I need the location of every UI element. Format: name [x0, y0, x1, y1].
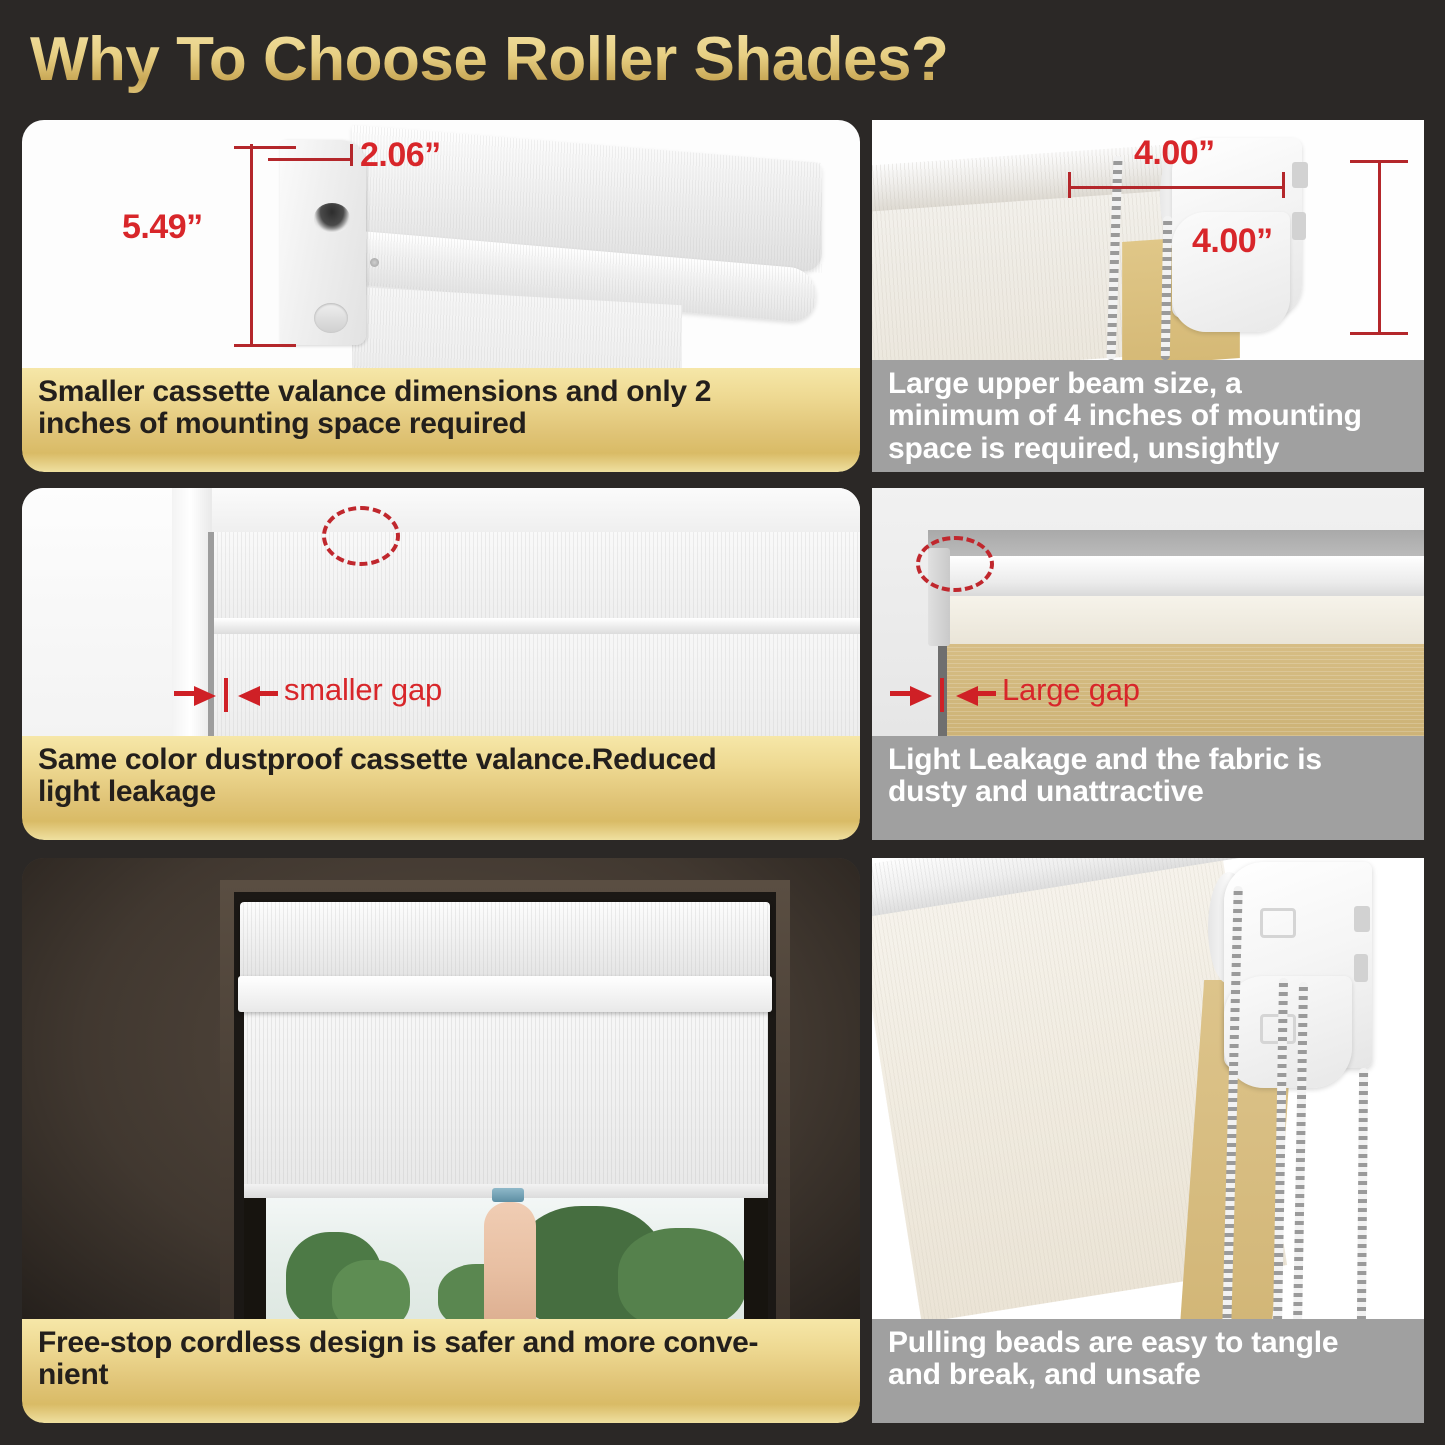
- caption-line: Free-stop cordless design is safer and m…: [38, 1327, 844, 1359]
- beam-height-label: 4.00”: [1192, 222, 1273, 261]
- caption-smaller-gap: Same color dustproof cassette valance.Re…: [22, 736, 860, 840]
- gap-arrow-tail: [890, 691, 914, 696]
- panel-large-beam: 4.00” 4.00” Large upper beam size, a min…: [872, 120, 1424, 472]
- image-room-with-shade: [22, 858, 860, 1328]
- gap-arrow-right-icon: [910, 686, 932, 706]
- image-white-window-frame: smaller gap: [22, 488, 860, 736]
- tree: [618, 1228, 746, 1328]
- caption-line: Light Leakage and the fabric is: [888, 744, 1408, 776]
- gap-arrow-tail: [174, 691, 198, 696]
- cassette-screw-icon: [370, 258, 379, 267]
- beam-height-tick-top: [1350, 160, 1408, 163]
- cassette-slot-lower-icon: [314, 303, 348, 333]
- caption-line: Pulling beads are easy to tangle: [888, 1327, 1408, 1359]
- fabric-white-band: [938, 596, 1424, 644]
- gap-arrow-tail: [976, 691, 996, 696]
- width-dimension-anchor: [250, 144, 253, 162]
- caption-line: inches of mounting space required: [38, 408, 844, 440]
- height-dimension-tick-top: [234, 146, 296, 149]
- roller-shade-fabric: [244, 1008, 768, 1190]
- cassette-slot-upper-icon: [314, 203, 350, 233]
- highlight-circle-annotation: [322, 506, 400, 566]
- caption-line: light leakage: [38, 776, 844, 808]
- panel-small-cassette: 5.49” 2.06” Smaller cassette valance dim…: [22, 120, 860, 472]
- width-dimension-label: 2.06”: [360, 136, 441, 175]
- height-dimension-line: [250, 148, 253, 346]
- cassette-valance: [240, 902, 770, 984]
- window-mullion-left: [244, 1198, 266, 1328]
- valance-lip: [238, 976, 772, 1012]
- beam-height-line: [1378, 162, 1381, 334]
- width-dimension-line: [268, 158, 352, 161]
- panel-pulling-beads: Pulling beads are easy to tangle and bre…: [872, 858, 1424, 1423]
- shade-upper-section: [214, 532, 860, 620]
- beam-height-tick-bottom: [1350, 332, 1408, 335]
- gap-arrow-tail: [258, 691, 278, 696]
- gap-arrow-left-icon: [238, 686, 260, 706]
- height-dimension-label: 5.49”: [122, 208, 203, 247]
- caption-large-gap: Light Leakage and the fabric is dusty an…: [872, 736, 1424, 840]
- caption-line: dusty and unattractive: [888, 776, 1408, 808]
- gap-marker: [940, 678, 944, 712]
- image-beaded-roller-shade: [872, 858, 1424, 1328]
- highlight-circle-annotation: [916, 536, 994, 592]
- beam-width-line: [1068, 186, 1284, 189]
- caption-line: Same color dustproof cassette valance.Re…: [38, 744, 844, 776]
- caption-line: and break, and unsafe: [888, 1359, 1408, 1391]
- gap-label: Large gap: [1002, 672, 1140, 708]
- caption-line: space is required, unsightly: [888, 433, 1408, 465]
- bracket-slot-icon: [1292, 162, 1308, 188]
- hand: [484, 1202, 536, 1326]
- beam-width-tick-right: [1282, 172, 1285, 198]
- caption-large-beam: Large upper beam size, a minimum of 4 in…: [872, 360, 1424, 472]
- bracket-slot-icon: [1292, 212, 1306, 240]
- height-dimension-tick-bottom: [234, 344, 296, 347]
- beam-width-label: 4.00”: [1134, 134, 1215, 173]
- image-light-leakage: Large gap: [872, 488, 1424, 736]
- image-large-upper-beam: 4.00” 4.00”: [872, 120, 1424, 360]
- window-mullion-right: [744, 1198, 768, 1328]
- caption-line: minimum of 4 inches of mounting: [888, 400, 1408, 432]
- valance-tube: [928, 556, 1424, 600]
- cassette-illustration: 5.49” 2.06”: [22, 120, 860, 388]
- width-dimension-tick-right: [350, 144, 353, 166]
- window-trim-top: [172, 488, 860, 532]
- bracket-slot-icon: [1354, 906, 1370, 932]
- shade-mid-rail: [214, 618, 860, 634]
- caption-line: nient: [38, 1359, 844, 1391]
- caption-line: Large upper beam size, a: [888, 368, 1408, 400]
- caption-line: Smaller cassette valance dimensions and …: [38, 376, 844, 408]
- panel-smaller-gap: smaller gap Same color dustproof cassett…: [22, 488, 860, 840]
- panel-large-gap: Large gap Light Leakage and the fabric i…: [872, 488, 1424, 840]
- shade-pull-handle: [492, 1188, 524, 1202]
- page-title: Why To Choose Roller Shades?: [30, 20, 1130, 100]
- caption-pulling-beads: Pulling beads are easy to tangle and bre…: [872, 1319, 1424, 1423]
- tree: [332, 1260, 410, 1328]
- gap-arrow-left-icon: [956, 686, 978, 706]
- beam-width-tick-left: [1068, 172, 1071, 198]
- gap-label: smaller gap: [284, 672, 442, 708]
- infographic-page: Why To Choose Roller Shades? 5.49”: [0, 0, 1445, 1445]
- bracket-emblem-icon: [1260, 908, 1296, 938]
- gap-arrow-right-icon: [194, 686, 216, 706]
- caption-cordless-design: Free-stop cordless design is safer and m…: [22, 1319, 860, 1423]
- image-cassette-valance: 5.49” 2.06”: [22, 120, 860, 388]
- panel-cordless-design: Free-stop cordless design is safer and m…: [22, 858, 860, 1423]
- bracket-slot-icon: [1354, 954, 1368, 982]
- gap-marker: [224, 678, 228, 712]
- caption-small-cassette: Smaller cassette valance dimensions and …: [22, 368, 860, 472]
